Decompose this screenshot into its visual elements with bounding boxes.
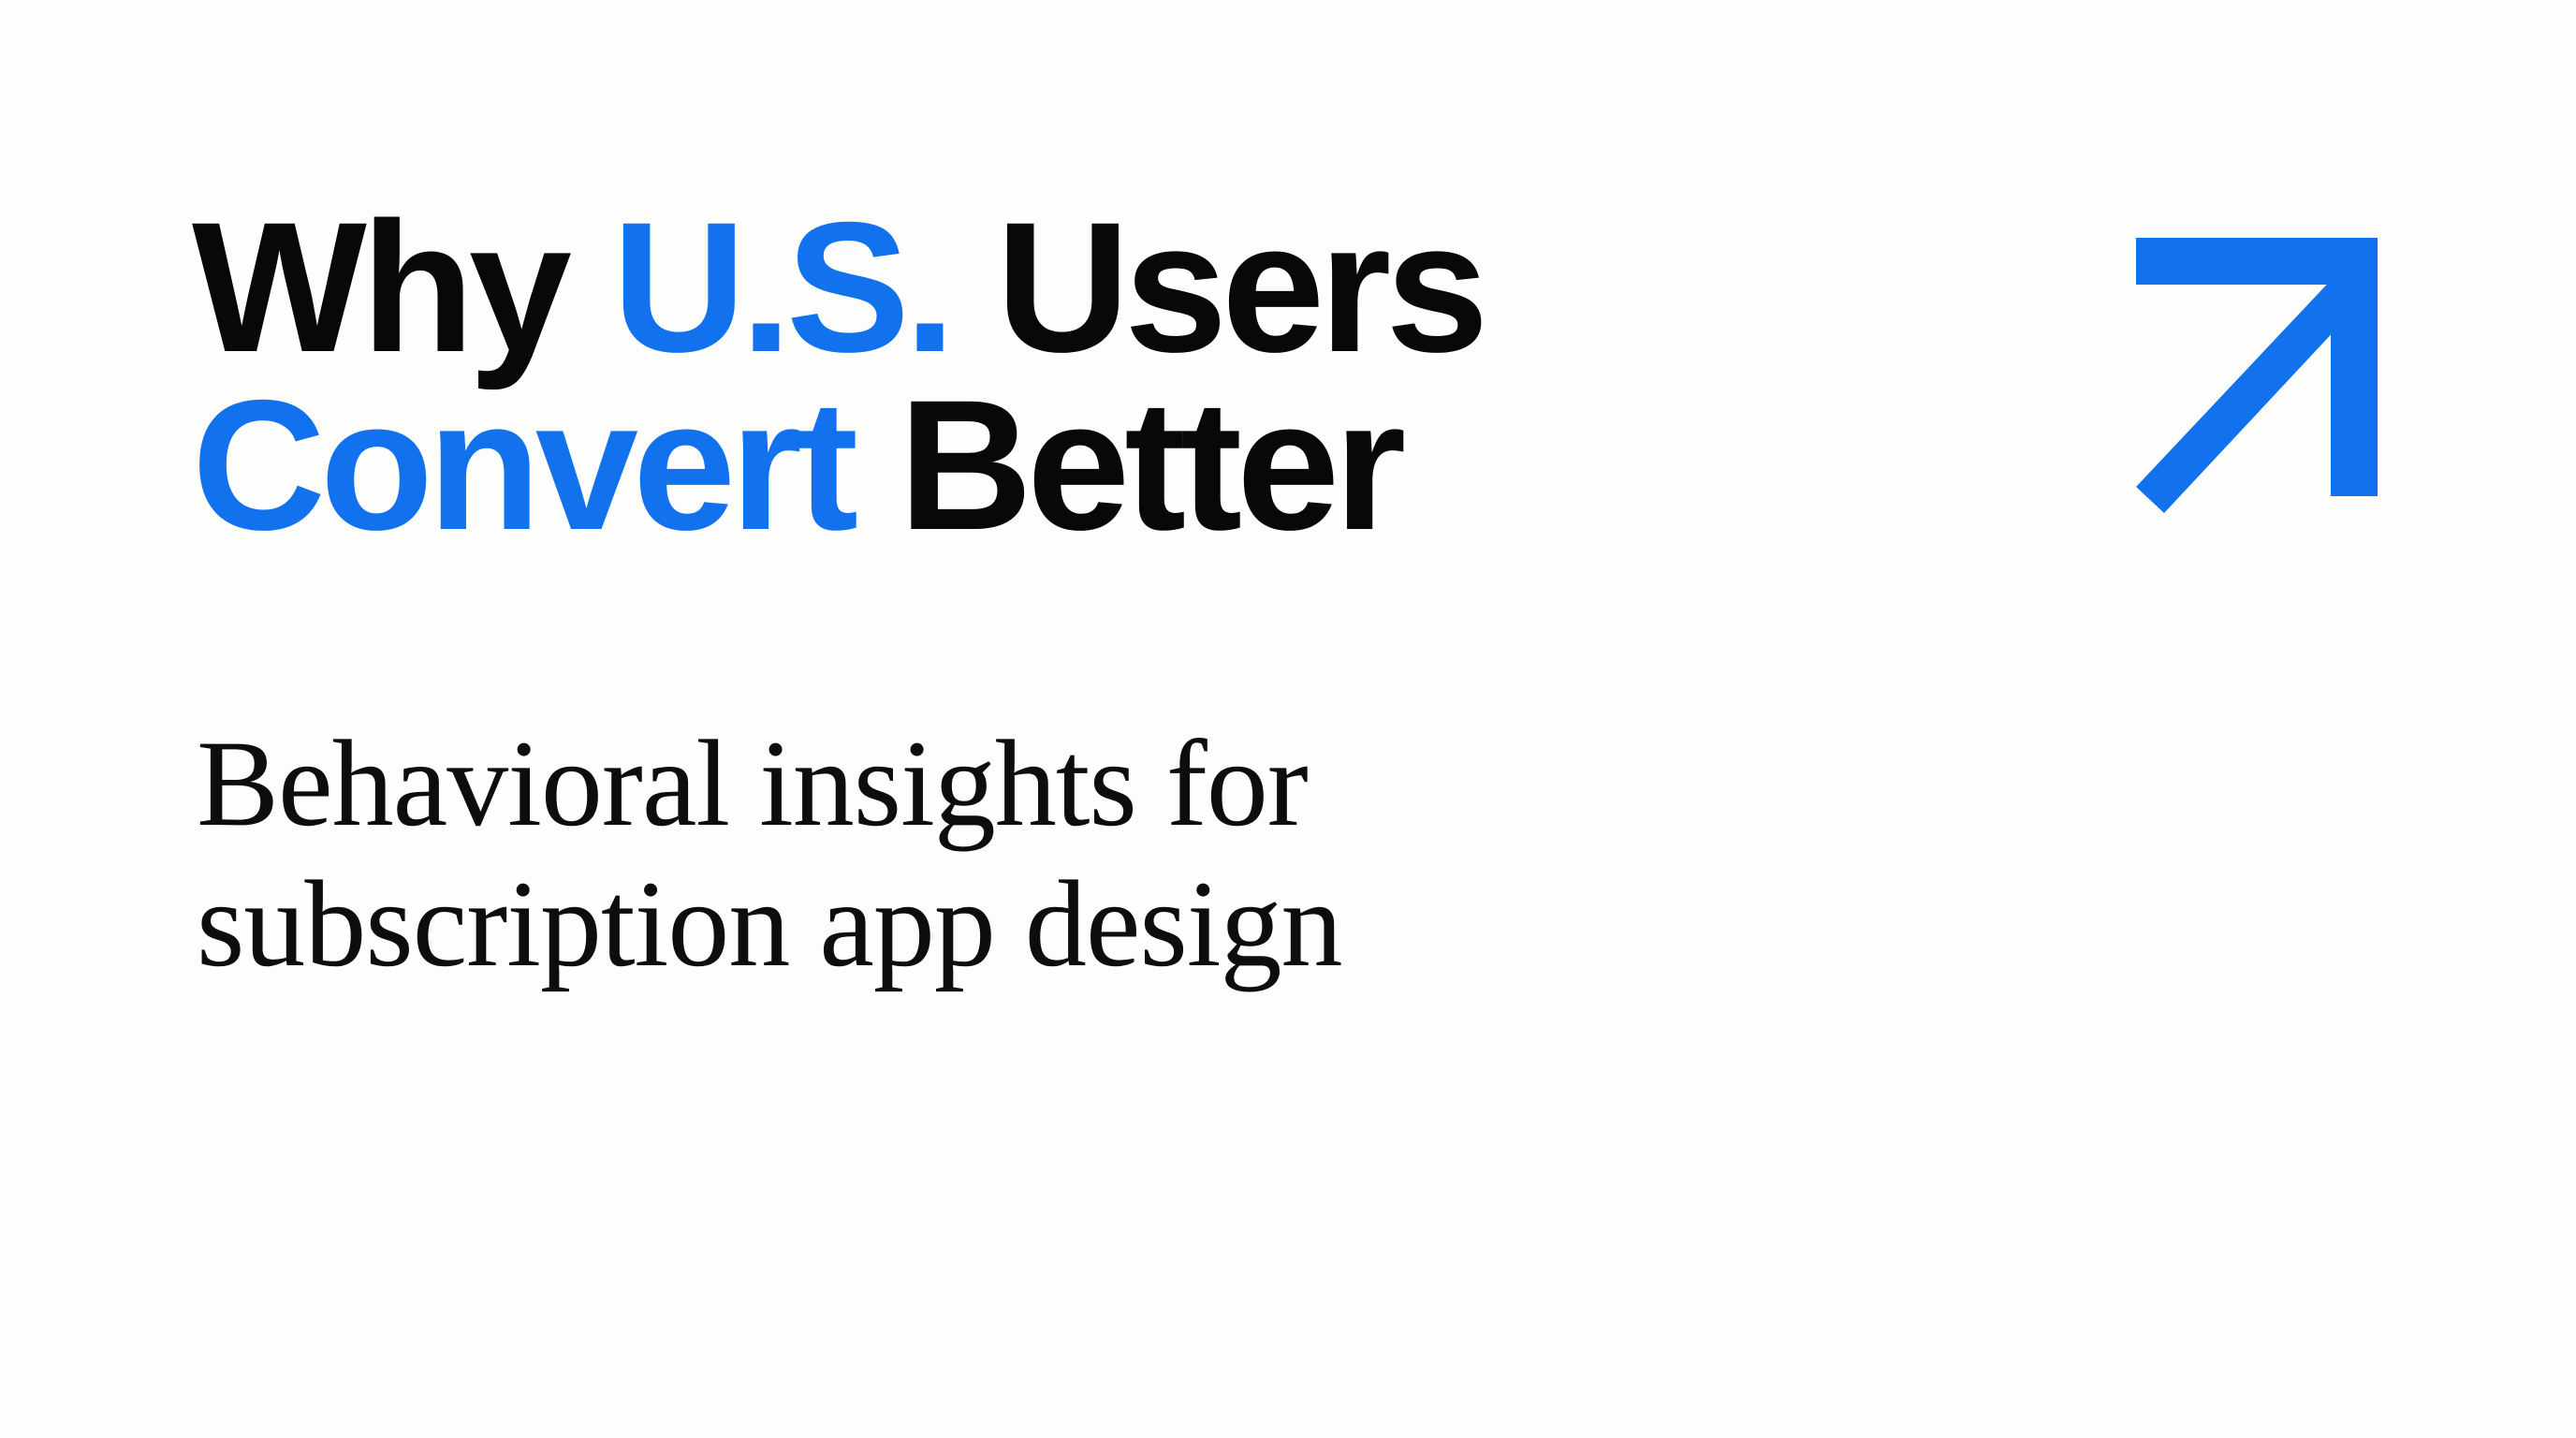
arrow-up-right-icon	[2123, 227, 2396, 528]
headline-line-1: Why U.S. Users	[192, 198, 2101, 376]
headline-line-1-lead: Why	[192, 183, 612, 390]
slide-canvas: Why U.S. Users Convert Better Behavioral…	[0, 0, 2576, 1438]
subtitle-block: Behavioral insights for subscription app…	[197, 713, 1975, 995]
page-title: Why U.S. Users Convert Better	[192, 198, 2101, 554]
subtitle-line-1: Behavioral insights for	[197, 713, 1975, 854]
headline-line-2: Convert Better	[192, 376, 2101, 554]
subtitle-line-2: subscription app design	[197, 854, 1975, 994]
page-subtitle: Behavioral insights for subscription app…	[197, 713, 1975, 995]
arrow-head-right-bar	[2331, 238, 2378, 496]
headline-block: Why U.S. Users Convert Better	[192, 198, 2101, 554]
headline-line-1-tail: Users	[950, 183, 1483, 390]
headline-line-1-accent: U.S.	[612, 183, 950, 390]
headline-line-2-accent: Convert	[192, 361, 853, 568]
headline-line-2-tail: Better	[853, 361, 1400, 568]
